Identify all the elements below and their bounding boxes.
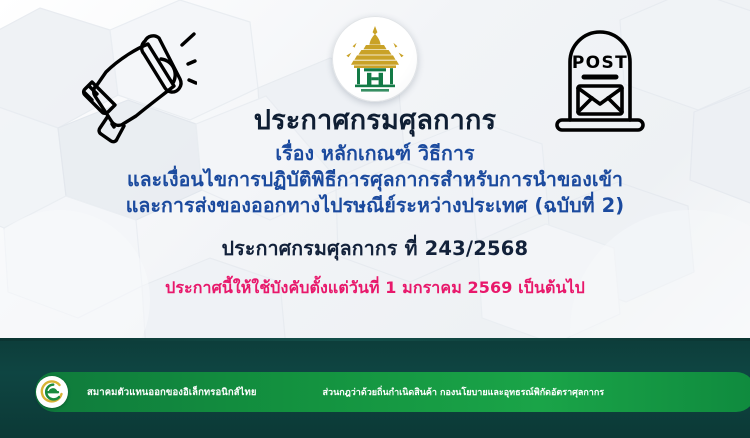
subtitle-group: เรื่อง หลักเกณฑ์ วิธีการ และเงื่อนไขการป… xyxy=(0,141,750,219)
announcement-poster: POST ประกาศกรมศุลกากร เรื่อง หลักเกณฑ์ ว… xyxy=(0,0,750,438)
e-association-logo xyxy=(36,376,68,408)
postbox-label: POST xyxy=(572,53,628,73)
effective-date-note: ประกาศนี้ให้ใช้บังคับตั้งแต่วันที่ 1 มกร… xyxy=(0,276,750,301)
thai-customs-department-emblem xyxy=(332,16,418,102)
emblem-thai-caption xyxy=(361,89,389,92)
footer-department-unit: ส่วนกฎว่าด้วยถิ่นกำเนิดสินค้า กองนโยบายแ… xyxy=(323,385,605,399)
subtitle-line-1: เรื่อง หลักเกณฑ์ วิธีการ xyxy=(275,142,474,165)
poster-text-block: ประกาศกรมศุลกากร เรื่อง หลักเกณฑ์ วิธีกา… xyxy=(0,105,750,301)
subtitle-line-3: และการส่งของออกทางไปรษณีย์ระหว่างประเทศ … xyxy=(0,193,750,219)
page-title: ประกาศกรมศุลกากร xyxy=(0,105,750,137)
footer-pill: สมาคมตัวแทนออกของอิเล็กทรอนิกส์ไทย ส่วนก… xyxy=(35,372,750,412)
document-number: ประกาศกรมศุลกากร ที่ 243/2568 xyxy=(0,233,750,264)
subtitle-line-2: และเงื่อนไขการปฏิบัติพิธีการศุลกากรสำหรั… xyxy=(0,167,750,193)
footer-association-name: สมาคมตัวแทนออกของอิเล็กทรอนิกส์ไทย xyxy=(87,385,257,400)
